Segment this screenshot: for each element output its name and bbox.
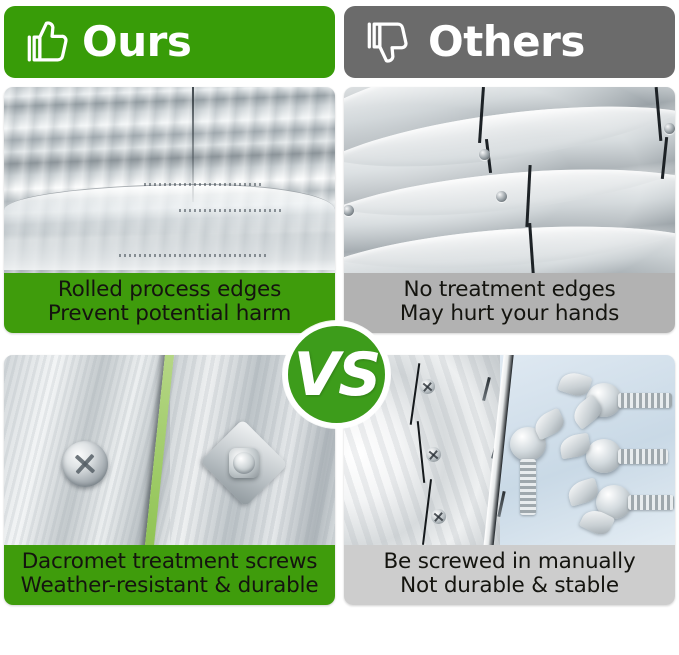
caption-line: Weather-resistant & durable — [10, 574, 329, 598]
caption-ours-edges: Rolled process edges Prevent potential h… — [4, 273, 335, 333]
card-ours-edges: Rolled process edges Prevent potential h… — [4, 87, 335, 333]
column-ours: Ours Rolled process edges Prevent potent… — [4, 6, 335, 605]
caption-others-edges: No treatment edges May hurt your hands — [344, 273, 675, 333]
caption-line: Not durable & stable — [350, 574, 669, 598]
caption-line: Prevent potential harm — [10, 302, 329, 326]
caption-line: Dacromet treatment screws — [10, 550, 329, 574]
vs-badge: VS — [283, 321, 390, 428]
photo-rolled-edge — [4, 87, 335, 273]
header-ours: Ours — [4, 6, 335, 78]
header-others: Others — [344, 6, 675, 78]
caption-line: Be screwed in manually — [350, 550, 669, 574]
photo-manual-bolts — [344, 355, 675, 545]
thumbs-down-icon — [362, 16, 414, 68]
card-others-edges: No treatment edges May hurt your hands — [344, 87, 675, 333]
screw-head-icon — [62, 441, 108, 487]
caption-others-screws: Be screwed in manually Not durable & sta… — [344, 545, 675, 605]
screw-hole — [496, 191, 507, 202]
vs-badge-label: VS — [294, 345, 380, 405]
caption-ours-screws: Dacromet treatment screws Weather-resist… — [4, 545, 335, 605]
photo-untreated-rim — [344, 87, 675, 273]
column-others: Others No treatment edges — [344, 6, 675, 605]
thumbs-up-icon — [22, 16, 74, 68]
comparison-infographic: Ours Rolled process edges Prevent potent… — [0, 0, 679, 655]
screw-head-icon — [420, 379, 435, 394]
caption-line: May hurt your hands — [350, 302, 669, 326]
screw-hole — [479, 149, 490, 160]
caption-line: Rolled process edges — [10, 278, 329, 302]
bolt-shank — [233, 452, 255, 474]
header-ours-label: Ours — [82, 21, 191, 63]
card-others-screws: Be screwed in manually Not durable & sta… — [344, 355, 675, 605]
caption-line: No treatment edges — [350, 278, 669, 302]
header-others-label: Others — [428, 21, 585, 63]
screw-hole — [664, 123, 675, 134]
screw-head-icon — [431, 509, 446, 524]
screw-head-icon — [426, 447, 441, 462]
